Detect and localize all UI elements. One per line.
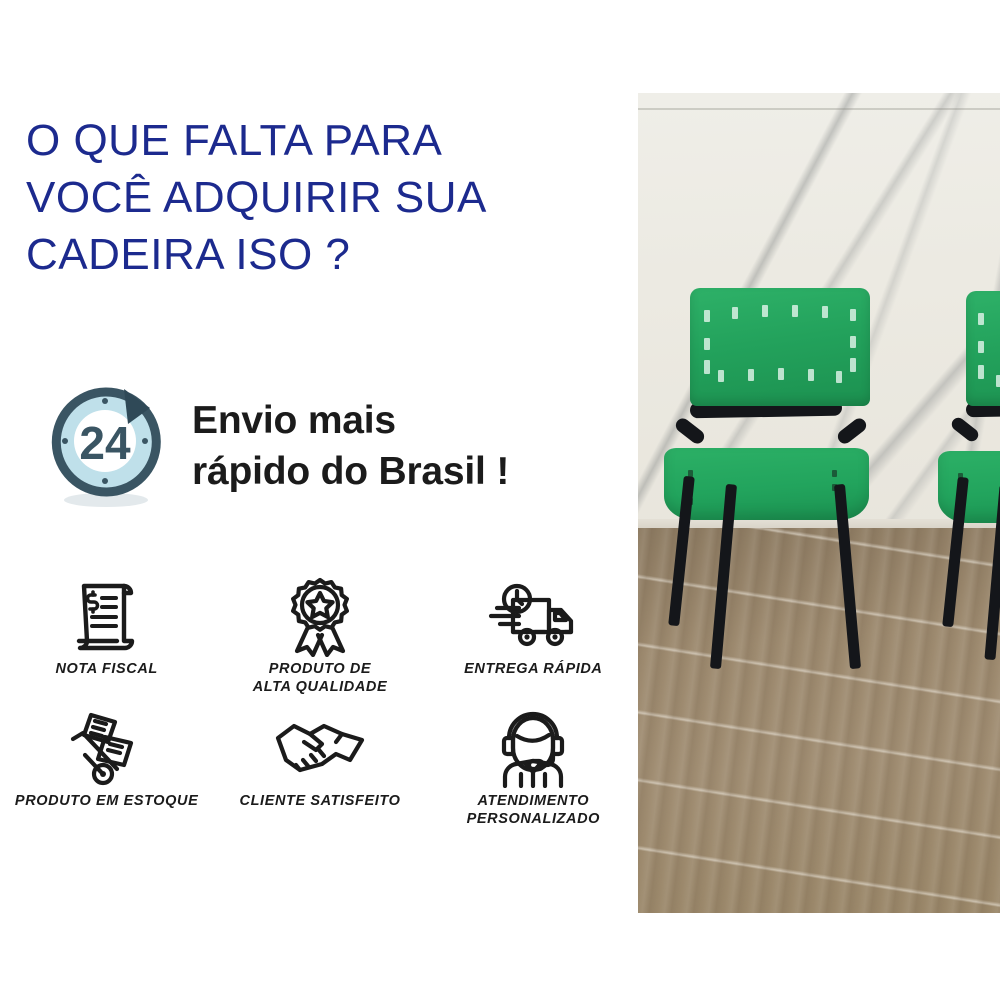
benefit-item-cliente-satisfeito: CLIENTE SATISFEITO — [213, 707, 426, 835]
chair-armrest-left — [673, 416, 707, 447]
chair-backrest — [690, 288, 870, 406]
svg-text:24: 24 — [79, 417, 131, 469]
chair-seat — [938, 451, 1000, 523]
quality-ribbon-award-icon — [280, 575, 360, 657]
shipping-highlight: 24 Envio mais rápido do Brasil ! — [44, 383, 509, 509]
chair-armrest-right — [835, 416, 869, 447]
benefit-label: CLIENTE SATISFEITO — [240, 793, 401, 811]
shipping-headline-text: Envio mais rápido do Brasil ! — [192, 395, 509, 498]
headset-support-agent-icon — [491, 707, 575, 789]
promo-banner: O QUE FALTA PARA VOCÊ ADQUIRIR SUA CADEI… — [0, 0, 1000, 1000]
24-hour-clock-icon: 24 — [44, 383, 170, 509]
handshake-icon — [270, 707, 370, 789]
benefit-item-alta-qualidade: PRODUTO DE ALTA QUALIDADE — [213, 575, 426, 703]
benefit-item-produto-em-estoque: PRODUTO EM ESTOQUE — [0, 707, 213, 835]
benefits-grid: NOTA FISCAL PRODUTO DE ALTA QUALIDADE — [0, 575, 640, 835]
green-iso-chair — [660, 288, 870, 808]
benefit-label: PRODUTO DE ALTA QUALIDADE — [253, 661, 388, 696]
benefit-label: PRODUTO EM ESTOQUE — [15, 793, 198, 811]
green-iso-chair-secondary — [938, 291, 1000, 811]
benefit-item-nota-fiscal: NOTA FISCAL — [0, 575, 213, 703]
invoice-receipt-icon — [68, 575, 146, 657]
benefit-label: NOTA FISCAL — [55, 661, 157, 679]
chair-backrest — [966, 291, 1000, 406]
hand-truck-dolly-icon — [61, 707, 153, 789]
benefit-label: ENTREGA RÁPIDA — [464, 661, 602, 679]
chair-armrest-left — [949, 415, 981, 444]
wall-seam-line — [638, 108, 1000, 110]
product-photo — [638, 93, 1000, 913]
fast-delivery-truck-icon — [483, 575, 583, 657]
page-title: O QUE FALTA PARA VOCÊ ADQUIRIR SUA CADEI… — [26, 112, 606, 284]
benefit-item-atendimento-personalizado: ATENDIMENTO PERSONALIZADO — [427, 707, 640, 835]
benefit-label: ATENDIMENTO PERSONALIZADO — [467, 793, 600, 828]
benefit-item-entrega-rapida: ENTREGA RÁPIDA — [427, 575, 640, 703]
